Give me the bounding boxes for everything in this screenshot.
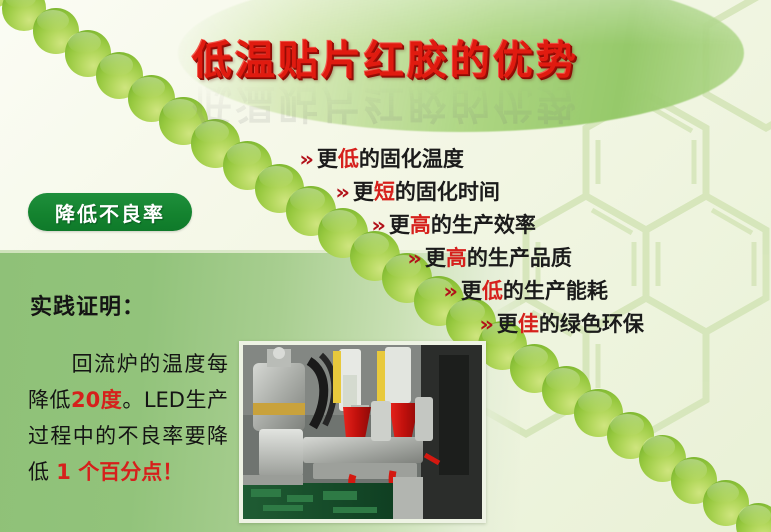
chevron-right-icon: » [407,242,418,275]
bead [159,97,207,145]
benefit-prefix: 更 [353,180,374,204]
machine-photo-image [243,345,482,519]
badge-label: 降低不良率 [55,198,165,227]
proof-highlight-2: 1 个百分点！ [49,460,183,484]
benefit-suffix: 的固化温度 [359,147,464,171]
chevron-right-icon: » [479,308,490,341]
bead [574,389,622,437]
benefit-highlight: 短 [374,180,395,204]
benefit-suffix: 的绿色环保 [539,312,644,336]
benefit-highlight: 低 [482,279,503,303]
benefit-highlight: 高 [446,246,467,270]
benefit-prefix: 更 [461,279,482,303]
bead [255,164,304,213]
benefit-item: »更佳的绿色环保 [480,308,770,341]
benefit-suffix: 的生产效率 [431,213,536,237]
bead [191,119,240,168]
bead [703,480,749,526]
chevron-right-icon: » [299,143,310,176]
benefit-prefix: 更 [389,213,410,237]
benefit-prefix: 更 [317,147,338,171]
bead [0,0,14,8]
benefit-item: »更短的固化时间 [336,176,770,209]
benefit-item: »更低的固化温度 [300,143,770,176]
benefit-prefix: 更 [497,312,518,336]
benefit-highlight: 佳 [518,312,539,336]
machine-photo-frame [239,341,486,523]
bead [736,503,771,532]
chevron-right-icon: » [335,176,346,209]
benefit-item: »更高的生产品质 [408,242,770,275]
benefit-suffix: 的生产品质 [467,246,572,270]
reduce-defect-rate-badge[interactable]: 降低不良率 [28,193,192,231]
benefit-suffix: 的固化时间 [395,180,500,204]
chevron-right-icon: » [371,209,382,242]
benefit-item: »更低的生产能耗 [444,275,770,308]
page-title: 低温贴片红胶的优势 [192,28,579,86]
chevron-right-icon: » [443,275,454,308]
bead [542,366,591,415]
machine-photo [243,345,482,519]
benefit-highlight: 低 [338,147,359,171]
poster-slide: 低温贴片红胶的优势 低温贴片红胶的优势 »更低的固化温度»更短的固化时间»更高的… [0,0,771,532]
bead [223,141,272,190]
bead [639,435,686,482]
bead [2,0,47,31]
benefit-prefix: 更 [425,246,446,270]
benefits-list: »更低的固化温度»更短的固化时间»更高的生产效率»更高的生产品质»更低的生产能耗… [300,143,770,341]
proof-heading: 实践证明： [30,289,145,321]
proof-body-text: 回流炉的温度每降低20度。LED生产过程中的不良率要降低 1 个百分点！ [28,346,228,490]
benefit-suffix: 的生产能耗 [503,279,608,303]
proof-highlight-1: 20度 [71,388,122,412]
bead [607,412,655,460]
benefit-item: »更高的生产效率 [372,209,770,242]
bead [671,457,717,503]
benefit-highlight: 高 [410,213,431,237]
title-container: 低温贴片红胶的优势 [0,28,771,86]
